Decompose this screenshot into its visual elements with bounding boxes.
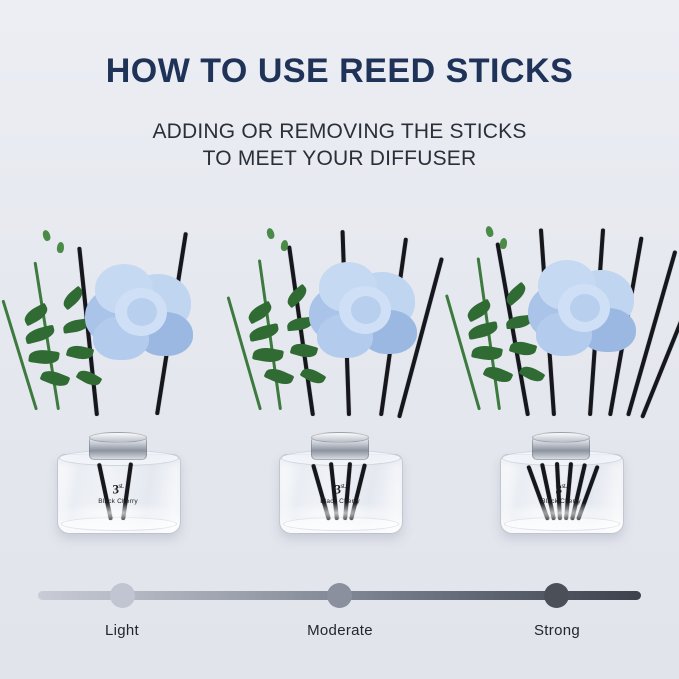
intensity-knob-strong xyxy=(544,583,569,608)
strong-diffuser: 3st. Black Cherry xyxy=(448,200,674,560)
blue-rose xyxy=(307,256,437,376)
rose-center-inner xyxy=(570,294,600,322)
leaf xyxy=(28,348,60,366)
leaf xyxy=(264,365,295,388)
intensity-label-moderate: Moderate xyxy=(260,622,420,639)
bud xyxy=(56,242,64,254)
moderate-diffuser: 3st. Black Cherry xyxy=(227,200,453,560)
rose-center-inner xyxy=(351,296,381,324)
bud xyxy=(266,227,276,240)
leaf xyxy=(24,325,56,345)
page-title: HOW TO USE REED STICKS xyxy=(0,52,679,91)
diffuser-comparison-scene: 3st. Black Cherry xyxy=(0,200,679,560)
light-diffuser: 3st. Black Cherry xyxy=(5,200,231,560)
bud xyxy=(485,225,495,238)
diffuser-bottle: 3st. Black Cherry xyxy=(500,436,622,532)
diffuser-bottle: 3st. Black Cherry xyxy=(57,436,179,532)
reed-stick xyxy=(495,242,530,416)
intensity-scale: Light Moderate Strong xyxy=(0,565,679,665)
intensity-knob-moderate xyxy=(327,583,352,608)
intensity-knob-light xyxy=(110,583,135,608)
subtitle-line-1: ADDING OR REMOVING THE STICKS xyxy=(152,120,526,143)
blue-rose xyxy=(83,258,213,378)
bottle-reflection xyxy=(276,502,404,524)
leaf xyxy=(464,299,493,323)
leaf xyxy=(252,346,284,365)
intensity-label-light: Light xyxy=(42,622,202,639)
bottle-collar-top xyxy=(532,432,590,443)
bud xyxy=(499,238,507,250)
leaf xyxy=(483,363,514,386)
subtitle-line-2: TO MEET YOUR DIFFUSER xyxy=(0,145,679,172)
bottle-reflection xyxy=(497,502,625,524)
page-subtitle: ADDING OR REMOVING THE STICKS TO MEET YO… xyxy=(0,118,679,172)
bud xyxy=(41,229,51,242)
leaf xyxy=(467,321,499,340)
bottle-collar-top xyxy=(311,432,369,443)
blue-rose xyxy=(526,254,656,374)
leaf xyxy=(248,323,280,342)
bottle-collar-top xyxy=(89,432,147,443)
poster-canvas: HOW TO USE REED STICKS ADDING OR REMOVIN… xyxy=(0,0,679,679)
rose-center-inner xyxy=(127,298,157,326)
leaf xyxy=(471,344,503,363)
leaf xyxy=(245,301,274,325)
diffuser-bottle: 3st. Black Cherry xyxy=(279,436,401,532)
bottle-reflection xyxy=(54,502,182,524)
intensity-label-strong: Strong xyxy=(477,622,637,639)
